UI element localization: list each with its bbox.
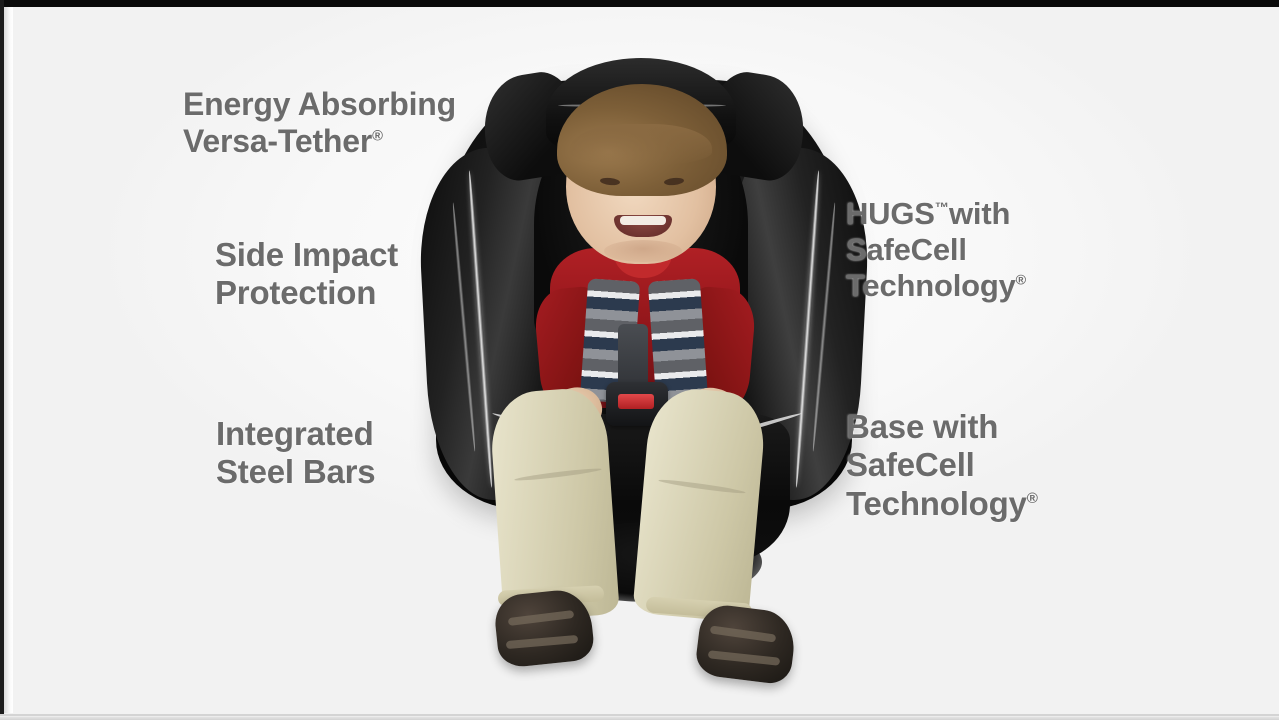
registered-trademark-icon: ® (1027, 490, 1038, 507)
callout-line-2: Versa-Tether (183, 123, 372, 159)
child-sandal-right (694, 602, 798, 685)
frame-edge-top (0, 0, 1279, 7)
frame-edge-left-soft (4, 7, 13, 713)
harness-buckle-release (618, 394, 654, 409)
callout-line-2: Protection (215, 274, 376, 311)
callout-line-2: Steel Bars (216, 453, 375, 490)
child-teeth (620, 216, 666, 225)
registered-trademark-icon: ® (372, 128, 383, 144)
callout-line-1b: with (949, 196, 1010, 231)
video-frame: Energy AbsorbingVersa-Tether® Side Impac… (0, 0, 1279, 720)
child-hair-fringe (570, 124, 712, 166)
callout-line-1: Base with (846, 408, 998, 445)
callout-base-with-safecell-technology: Base withSafeCellTechnology® (846, 408, 1038, 523)
child-leg-right (632, 385, 767, 622)
callout-line-3: Technology (846, 485, 1027, 522)
callout-energy-absorbing-versa-tether: Energy AbsorbingVersa-Tether® (183, 86, 456, 160)
callout-line-3: Technology (846, 268, 1016, 303)
callout-hugs-with-safecell-technology: HUGS™withSafeCellTechnology® (846, 196, 1026, 304)
callout-line-1: Side Impact (215, 236, 398, 273)
callout-line-2: SafeCell (846, 232, 967, 267)
car-seat-graphic (418, 52, 870, 612)
callout-line-1: Integrated (216, 415, 374, 452)
registered-trademark-icon: ® (1016, 273, 1027, 289)
child-figure (418, 52, 870, 612)
callout-integrated-steel-bars: IntegratedSteel Bars (216, 415, 375, 492)
frame-edge-left (0, 0, 4, 720)
frame-edge-bottom-line (0, 714, 1279, 716)
callout-line-1: Energy Absorbing (183, 86, 456, 122)
trademark-icon: ™ (935, 201, 949, 217)
callout-line-2: SafeCell (846, 446, 975, 483)
callout-line-1: HUGS (846, 196, 935, 231)
child-chin-shadow (604, 240, 682, 262)
callout-side-impact-protection: Side ImpactProtection (215, 236, 398, 313)
